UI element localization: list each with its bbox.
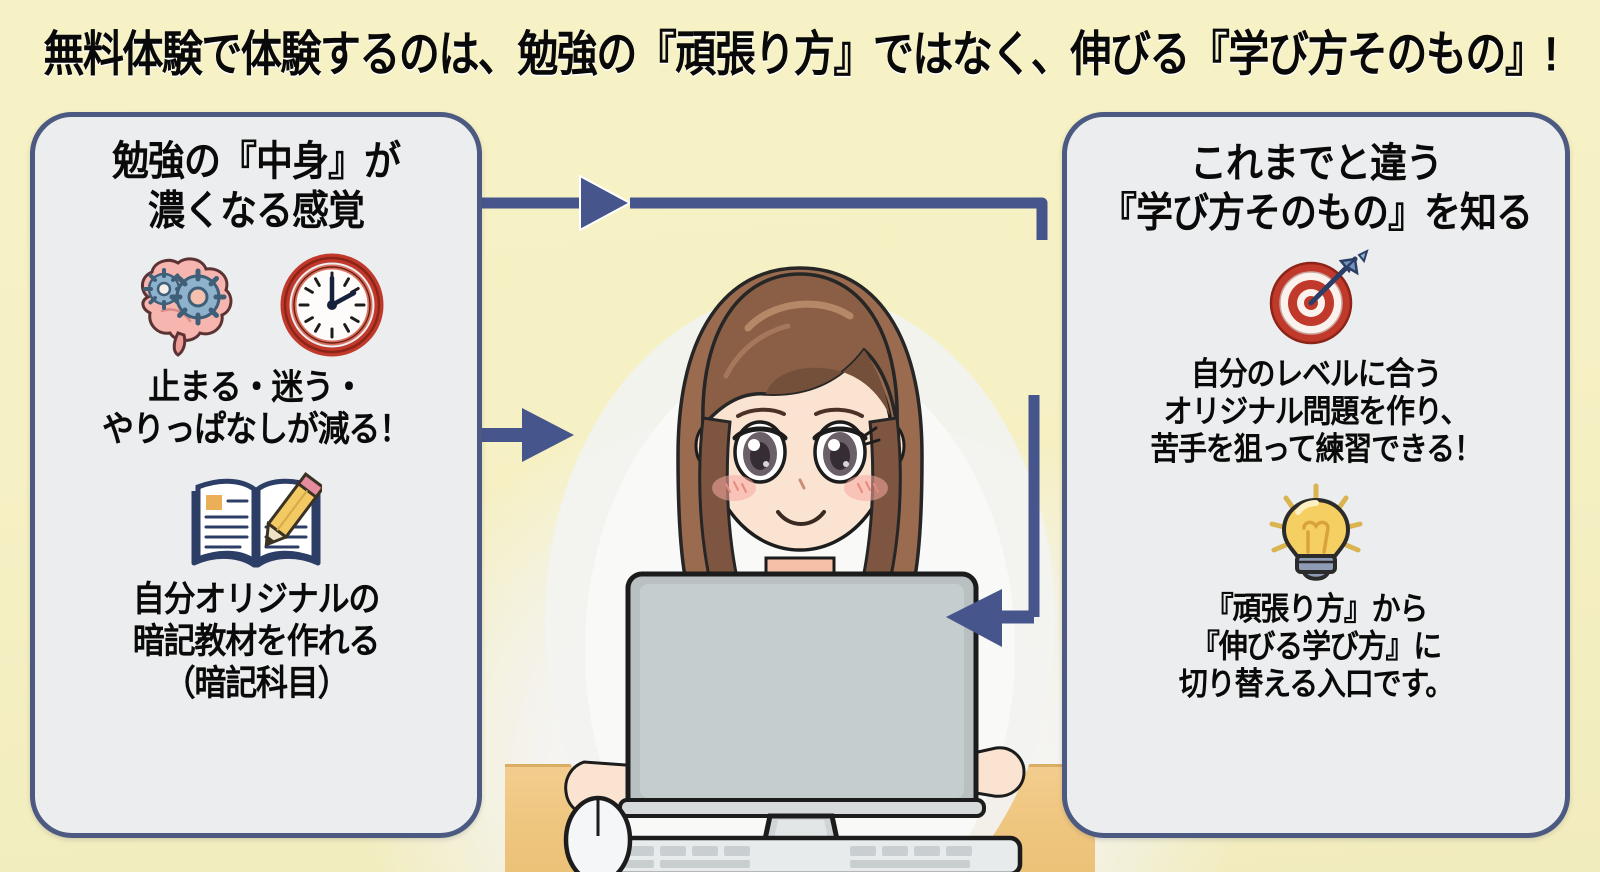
left-block-2-icons <box>35 469 477 573</box>
left-block-1-text: 止まる・迷う・ やりっぱなしが減る！ <box>35 367 477 450</box>
left-panel: 勉強の『中身』が 濃くなる感覚 <box>30 112 482 838</box>
right-block-2: 『頑張り方』から 『伸びる学び方』に 切り替える入口です。 <box>1067 482 1565 699</box>
right-block-2-text: 『頑張り方』から 『伸びる学び方』に 切り替える入口です。 <box>1067 591 1565 704</box>
computer-mouse <box>566 798 630 872</box>
right-block-2-icons <box>1067 482 1565 586</box>
right-block-1: 自分のレベルに合う オリジナル問題を作り、 苦手を狙って練習できる！ <box>1067 249 1565 464</box>
clock-icon <box>280 253 384 357</box>
keyboard <box>580 838 1020 872</box>
brain-gears-icon <box>128 253 246 357</box>
open-book-pencil-icon <box>190 469 322 573</box>
right-panel: これまでと違う 『学び方そのもの』を知る 自分のレベルに合う <box>1062 112 1570 838</box>
infographic-canvas: 無料体験で体験するのは、勉強の『頑張り方』ではなく、伸びる『学び方そのもの』! <box>0 0 1600 872</box>
lightbulb-icon <box>1264 482 1368 586</box>
page-title: 無料体験で体験するのは、勉強の『頑張り方』ではなく、伸びる『学び方そのもの』! <box>0 14 1600 85</box>
target-dart-icon <box>1263 249 1369 349</box>
left-block-1: 止まる・迷う・ やりっぱなしが減る！ <box>35 253 477 447</box>
girl-studying-at-computer <box>520 150 1080 872</box>
right-block-1-icons <box>1067 249 1565 349</box>
left-block-2-text: 自分オリジナルの 暗記教材を作れる （暗記科目） <box>35 579 477 704</box>
left-block-1-icons <box>35 253 477 357</box>
left-block-2: 自分オリジナルの 暗記教材を作れる （暗記科目） <box>35 469 477 698</box>
right-block-1-text: 自分のレベルに合う オリジナル問題を作り、 苦手を狙って練習できる！ <box>1067 356 1565 469</box>
left-panel-title: 勉強の『中身』が 濃くなる感覚 <box>35 136 477 235</box>
right-panel-title: これまでと違う 『学び方そのもの』を知る <box>1067 138 1565 237</box>
